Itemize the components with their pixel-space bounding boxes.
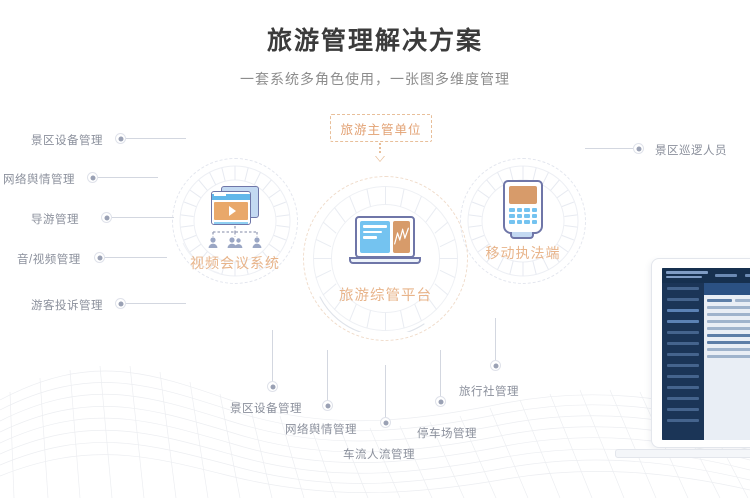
bottom-connector-0 (272, 330, 273, 383)
dashboard-logo (666, 271, 708, 280)
authority-arrow-icon (375, 156, 385, 162)
authority-arrow-dots (379, 143, 381, 155)
dashboard-topbar (662, 268, 750, 283)
dashboard-body (662, 283, 750, 440)
bottom-connector-3 (440, 350, 441, 398)
video-window-front (211, 191, 251, 225)
dashboard-row (707, 313, 750, 316)
dashboard-row (707, 341, 750, 344)
ring-mobile-enforcement: 移动执法端 (460, 158, 586, 284)
left-dot-3[interactable] (94, 252, 105, 263)
left-dot-0[interactable] (115, 133, 126, 144)
dashboard-row (707, 355, 750, 358)
participants-icon-group (207, 226, 263, 250)
solution-diagram-canvas: 旅游管理解决方案 一套系统多角色使用，一张图多维度管理 旅游主管单位 (0, 0, 750, 498)
device-base (510, 232, 534, 239)
left-label-1: 网络舆情管理 (3, 171, 75, 187)
dashboard-row (707, 327, 750, 330)
laptop-screen (355, 216, 415, 258)
bottom-dot-2[interactable] (380, 417, 391, 428)
video-window-icon (207, 182, 263, 248)
node-title-mobile-enforcement: 移动执法端 (460, 243, 586, 263)
ring-tourism-platform: 旅游综管平台 (303, 176, 468, 341)
handheld-device-icon (503, 180, 543, 240)
laptop-list-panel (360, 221, 390, 253)
laptop-dashboard-icon (349, 216, 421, 266)
left-label-3: 音/视频管理 (17, 251, 81, 267)
left-label-2: 导游管理 (31, 211, 79, 227)
left-connector-4 (126, 303, 186, 304)
laptop-lid (651, 258, 750, 448)
bottom-dot-0[interactable] (267, 381, 278, 392)
header-block: 旅游管理解决方案 一套系统多角色使用，一张图多维度管理 (0, 0, 750, 89)
authority-box-label: 旅游主管单位 (340, 119, 421, 138)
dashboard-row (707, 348, 750, 351)
dashboard-content-header (704, 283, 750, 295)
right-label-0: 景区巡逻人员 (655, 142, 727, 158)
laptop-base-plate (615, 449, 750, 458)
bottom-dot-4[interactable] (490, 360, 501, 371)
dashboard-screen (662, 268, 750, 440)
left-connector-3 (105, 257, 167, 258)
bottom-connector-4 (495, 318, 496, 362)
dashboard-sidebar (662, 283, 704, 440)
dashboard-row (707, 334, 750, 337)
left-dot-1[interactable] (87, 172, 98, 183)
left-connector-2 (112, 217, 174, 218)
bottom-dot-3[interactable] (435, 396, 446, 407)
device-keypad (509, 208, 537, 224)
left-dot-2[interactable] (101, 212, 112, 223)
node-title-tourism-platform: 旅游综管平台 (303, 284, 468, 305)
video-window-titlebar (212, 194, 250, 200)
left-label-0: 景区设备管理 (31, 132, 103, 148)
play-icon (229, 206, 236, 216)
bottom-label-2: 车流人流管理 (343, 446, 415, 462)
right-connector-0 (585, 148, 633, 149)
bottom-label-4: 旅行社管理 (459, 383, 519, 399)
bottom-label-3: 停车场管理 (417, 425, 477, 441)
left-dot-4[interactable] (115, 298, 126, 309)
left-connector-0 (126, 138, 186, 139)
bottom-dot-1[interactable] (322, 400, 333, 411)
dashboard-content (704, 283, 750, 440)
authority-box[interactable]: 旅游主管单位 (330, 114, 432, 142)
dashboard-row (707, 320, 750, 323)
bottom-label-1: 网络舆情管理 (285, 421, 357, 437)
video-window-screen (214, 202, 248, 220)
device-body (503, 180, 543, 234)
node-title-video-conference: 视频会议系统 (172, 253, 298, 273)
right-dot-0[interactable] (633, 143, 644, 154)
dashboard-tabs (715, 274, 750, 277)
page-title: 旅游管理解决方案 (0, 26, 750, 56)
chart-line-icon (393, 221, 410, 253)
dashboard-row (707, 306, 750, 309)
device-screen (509, 186, 537, 204)
bottom-connector-2 (385, 365, 386, 419)
ring-video-conference: 视频会议系统 (172, 158, 298, 284)
laptop-chart-panel (393, 221, 410, 253)
bottom-connector-1 (327, 350, 328, 402)
left-connector-1 (98, 177, 158, 178)
video-window-progress (214, 222, 248, 225)
page-subtitle: 一套系统多角色使用，一张图多维度管理 (0, 69, 750, 89)
laptop-base (349, 257, 421, 264)
dashboard-row (707, 299, 750, 302)
left-label-4: 游客投诉管理 (31, 297, 103, 313)
bottom-label-0: 景区设备管理 (230, 400, 302, 416)
